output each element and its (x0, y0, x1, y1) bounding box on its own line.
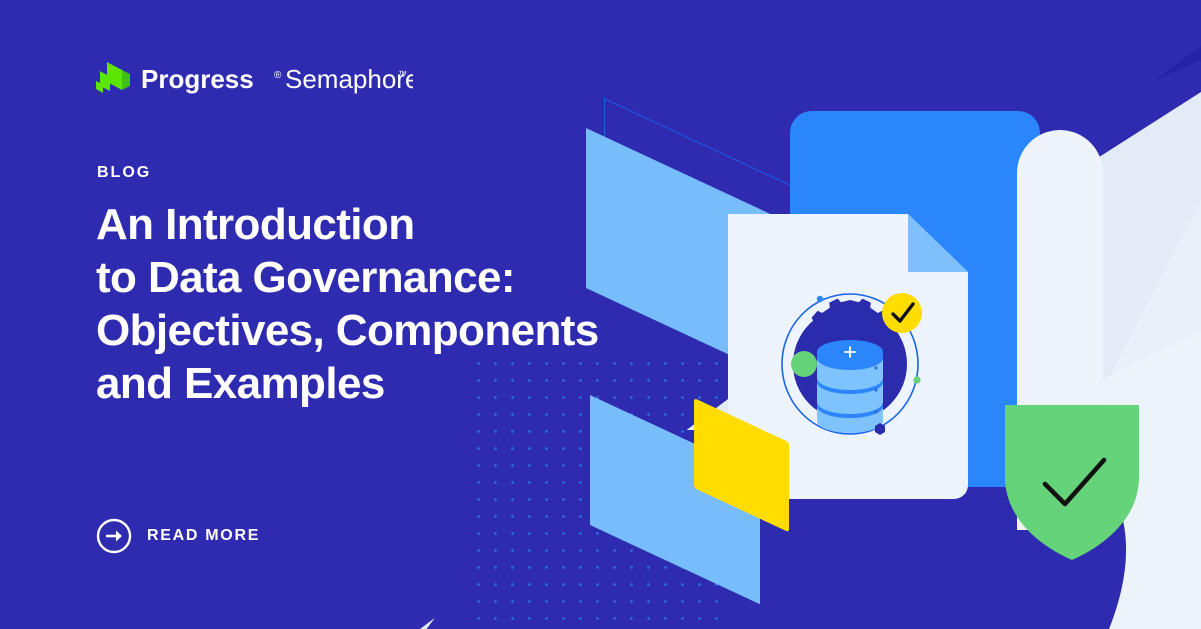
blog-promo-banner: Progress ® Semaphore ™ BLOG An Introduct… (0, 0, 1201, 629)
data-governance-emblem (770, 278, 930, 450)
headline-line-4: and Examples (96, 357, 656, 410)
page-title: An Introduction to Data Governance: Obje… (96, 198, 656, 410)
content-column: Progress ® Semaphore ™ BLOG An Introduct… (96, 0, 656, 629)
brand-logo[interactable]: Progress ® Semaphore ™ (96, 62, 413, 98)
headline-line-2: to Data Governance: (96, 251, 656, 304)
green-shield-check-icon (1005, 405, 1139, 560)
trademark-mark: ™ (398, 69, 407, 79)
read-more-label: READ MORE (147, 527, 260, 545)
database-cylinder-icon (817, 340, 883, 433)
orbit-node-green-dot (913, 376, 920, 383)
orbit-node-blue-dot (817, 296, 823, 302)
brand-wordmark: Progress ® Semaphore ™ (141, 65, 413, 95)
headline-line-1: An Introduction (96, 198, 656, 251)
category-eyebrow: BLOG (97, 164, 151, 182)
product-name-text: Semaphore (285, 65, 413, 94)
progress-chevron-logo-icon (96, 62, 130, 98)
headline-line-3: Objectives, Components (96, 304, 656, 357)
read-more-button[interactable]: READ MORE (96, 518, 260, 554)
brand-name-text: Progress (141, 65, 254, 94)
registered-mark: ® (274, 70, 282, 81)
orbit-node-green-large (791, 351, 817, 377)
circle-arrow-right-icon (96, 518, 132, 554)
yellow-check-badge (882, 293, 922, 333)
